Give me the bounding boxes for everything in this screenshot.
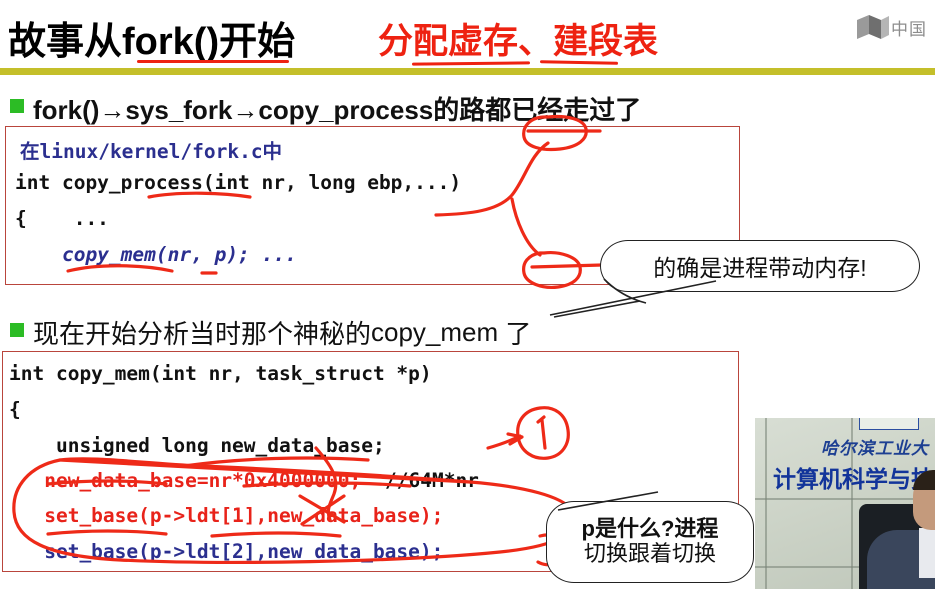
slide-title-bar: 故事从fork()开始 分配虚存、建段表 bbox=[0, 4, 935, 66]
title-divider-rule bbox=[0, 68, 935, 75]
code-line: int copy_mem(int nr, task_struct *p) bbox=[9, 362, 432, 385]
callout-process-drives-memory: 的确是进程带动内存! bbox=[600, 240, 920, 292]
code-line: 在linux/kernel/fork.c中 bbox=[20, 135, 282, 164]
code-line: int copy_process(int nr, long ebp,...) bbox=[15, 171, 461, 194]
code-line: { bbox=[9, 398, 21, 421]
title-underline-2 bbox=[412, 61, 530, 65]
video-banner-department: 计算机科学与技 bbox=[773, 460, 934, 494]
callout-text-line2: 切换跟着切换 bbox=[584, 542, 716, 567]
bullet-square-icon bbox=[10, 323, 24, 337]
lecturer-video-overlay[interactable]: 哈尔滨工业大 计算机科学与技 bbox=[755, 418, 935, 589]
code-line: new_data_base=nr*0x4000000; bbox=[9, 469, 361, 492]
callout-text: 的确是进程带动内存! bbox=[653, 249, 866, 283]
wall-grid-line bbox=[755, 498, 935, 500]
callout-text-line1: p是什么?进程 bbox=[582, 517, 719, 542]
brand-logo-text: 中国 bbox=[891, 15, 927, 40]
code-line: { ... bbox=[15, 207, 109, 230]
callout-what-is-p: p是什么?进程 切换跟着切换 bbox=[546, 501, 754, 583]
bullet-label-2-bold: copy_mem bbox=[371, 317, 498, 347]
bullet-square-icon bbox=[10, 99, 24, 113]
title-underline-3 bbox=[540, 60, 618, 65]
page-subtitle: 分配虚存、建段表 bbox=[378, 13, 658, 64]
bullet-label-2-pre: 现在开始分析当时那个神秘的 bbox=[33, 319, 371, 349]
lecturer-shirt bbox=[919, 528, 935, 578]
title-underline-1 bbox=[137, 60, 289, 63]
bullet-label-2-post: 了 bbox=[498, 319, 531, 349]
code-comment: //64M*nr bbox=[385, 469, 479, 492]
bullet-label-1: fork()→sys_fork→copy_process的路都已经走过了 bbox=[33, 95, 641, 125]
bullet-item-copy-mem: 现在开始分析当时那个神秘的copy_mem 了 bbox=[10, 314, 531, 351]
code-line: set_base(p->ldt[2],new_data_base); bbox=[9, 540, 443, 563]
page-title: 故事从fork()开始 bbox=[8, 10, 295, 65]
video-banner-university: 哈尔滨工业大 bbox=[821, 434, 929, 459]
bullet-item-fork-path: fork()→sys_fork→copy_process的路都已经走过了 bbox=[10, 90, 641, 127]
slide-root: 故事从fork()开始 分配虚存、建段表 中国 fork()→sys_fork→… bbox=[0, 0, 935, 589]
code-line: copy_mem(nr, p); ... bbox=[15, 243, 297, 266]
brand-logo: 中国 bbox=[855, 12, 930, 42]
code-line: set_base(p->ldt[1],new_data_base); bbox=[9, 504, 443, 527]
book-logo-icon bbox=[855, 12, 891, 42]
wall-plaque bbox=[859, 418, 919, 430]
wall-grid-line bbox=[765, 418, 767, 589]
code-line: unsigned long new_data_base; bbox=[9, 434, 385, 457]
